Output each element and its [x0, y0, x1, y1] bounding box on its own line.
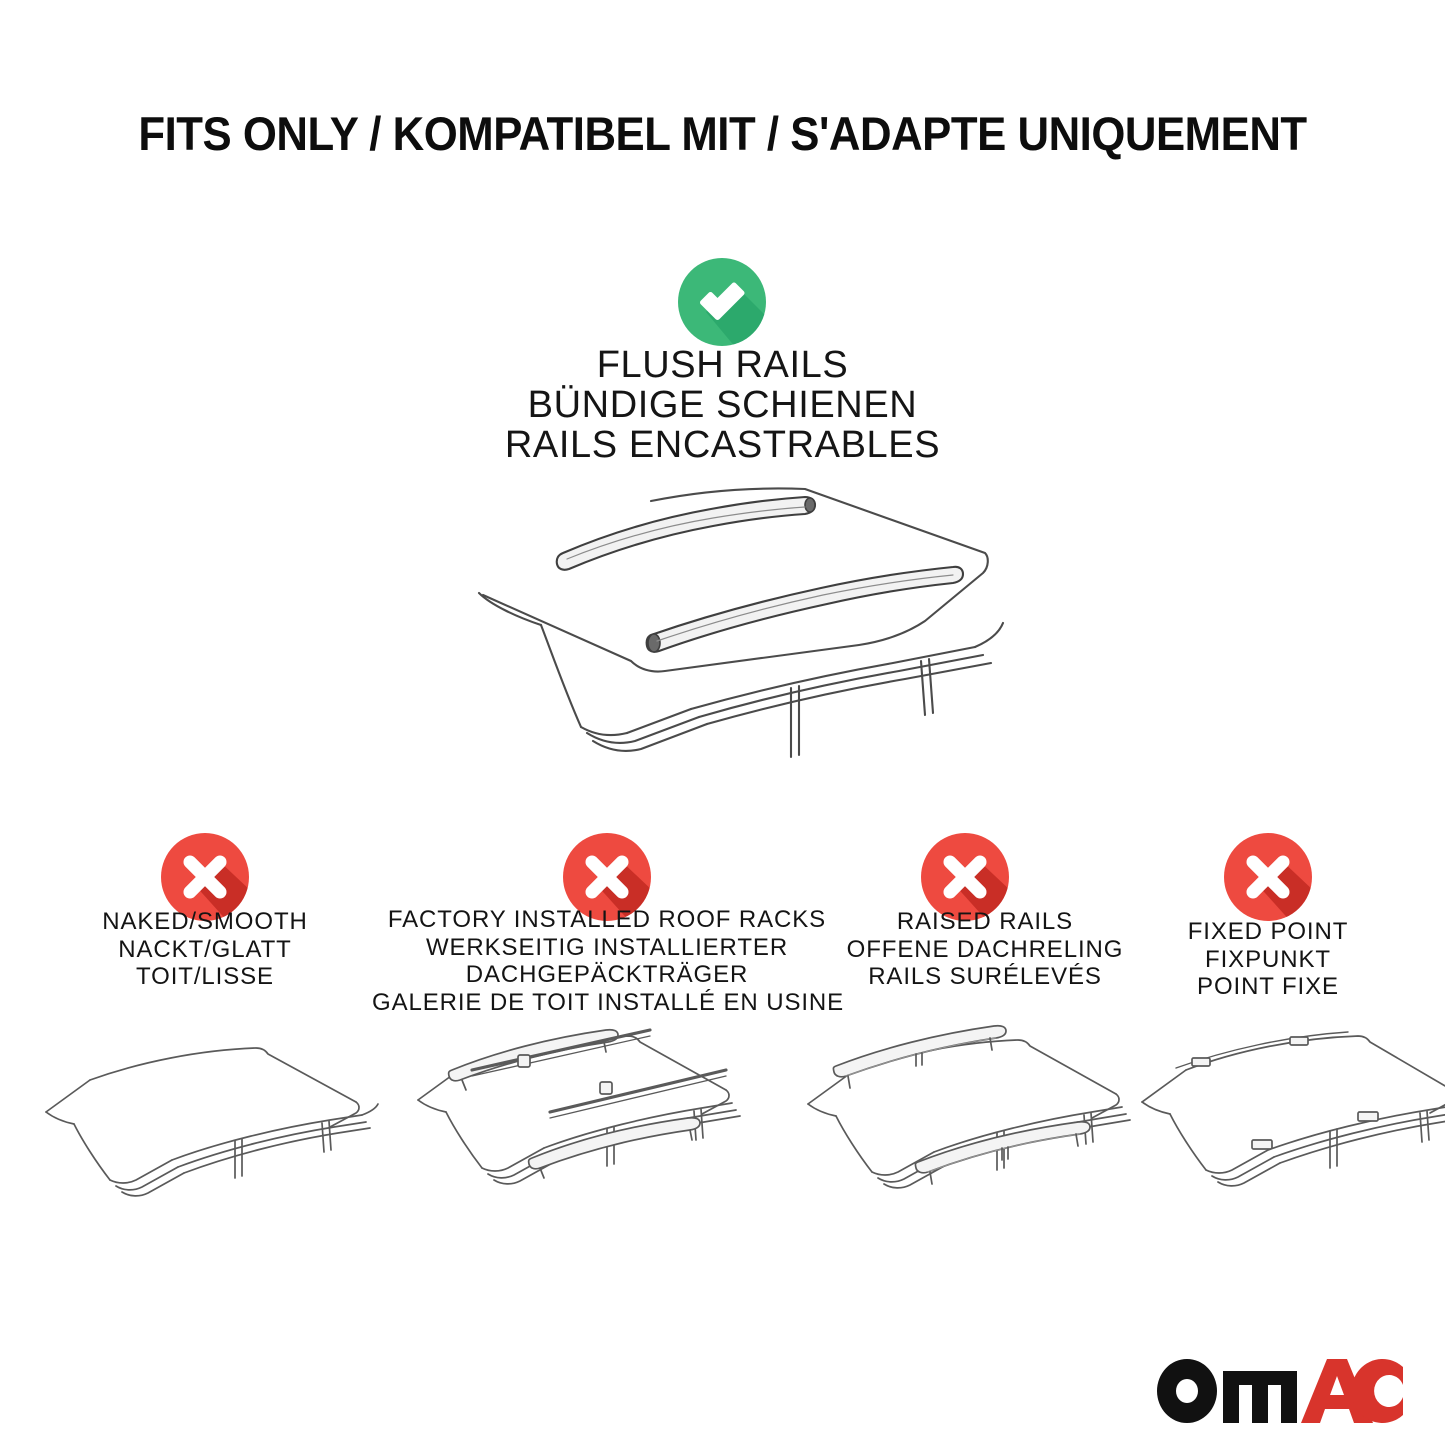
label-line-de: NACKT/GLATT	[25, 936, 385, 964]
label-line-en: NAKED/SMOOTH	[25, 908, 385, 936]
incompatible-label-naked-smooth: NAKED/SMOOTH NACKT/GLATT TOIT/LISSE	[25, 908, 385, 991]
compatible-label-line-en: FLUSH RAILS	[0, 345, 1445, 385]
incompatible-label-factory-roof-racks: FACTORY INSTALLED ROOF RACKS WERKSEITIG …	[372, 906, 842, 1016]
label-line-fr: TOIT/LISSE	[25, 963, 385, 991]
incompatible-label-fixed-point: FIXED POINT FIXPUNKT POINT FIXE	[1108, 918, 1428, 1001]
compatible-label: FLUSH RAILS BÜNDIGE SCHIENEN RAILS ENCAS…	[0, 345, 1445, 465]
label-line-en: FACTORY INSTALLED ROOF RACKS	[372, 906, 842, 934]
label-line-en: FIXED POINT	[1108, 918, 1428, 946]
omac-logo: OMAC	[1155, 1357, 1403, 1423]
check-circle-icon	[676, 256, 768, 348]
car-roof-fixed-point-illustration	[1130, 1012, 1445, 1232]
page-title: FITS ONLY / KOMPATIBEL MIT / S'ADAPTE UN…	[51, 106, 1395, 161]
car-roof-with-flush-rails-illustration	[455, 465, 1015, 765]
compatible-label-line-de: BÜNDIGE SCHIENEN	[0, 385, 1445, 425]
label-line-de-2: DACHGEPÄCKTRÄGER	[372, 961, 842, 989]
compatible-label-line-fr: RAILS ENCASTRABLES	[0, 425, 1445, 465]
label-line-de-1: WERKSEITIG INSTALLIERTER	[372, 934, 842, 962]
label-line-fr: POINT FIXE	[1108, 973, 1428, 1001]
label-line-de: FIXPUNKT	[1108, 946, 1428, 974]
car-roof-with-factory-roof-racks-illustration	[400, 1008, 760, 1228]
cross-circle-icon	[1222, 831, 1314, 923]
car-roof-with-raised-rails-illustration	[790, 1010, 1150, 1230]
car-roof-naked-smooth-illustration	[30, 1022, 390, 1242]
